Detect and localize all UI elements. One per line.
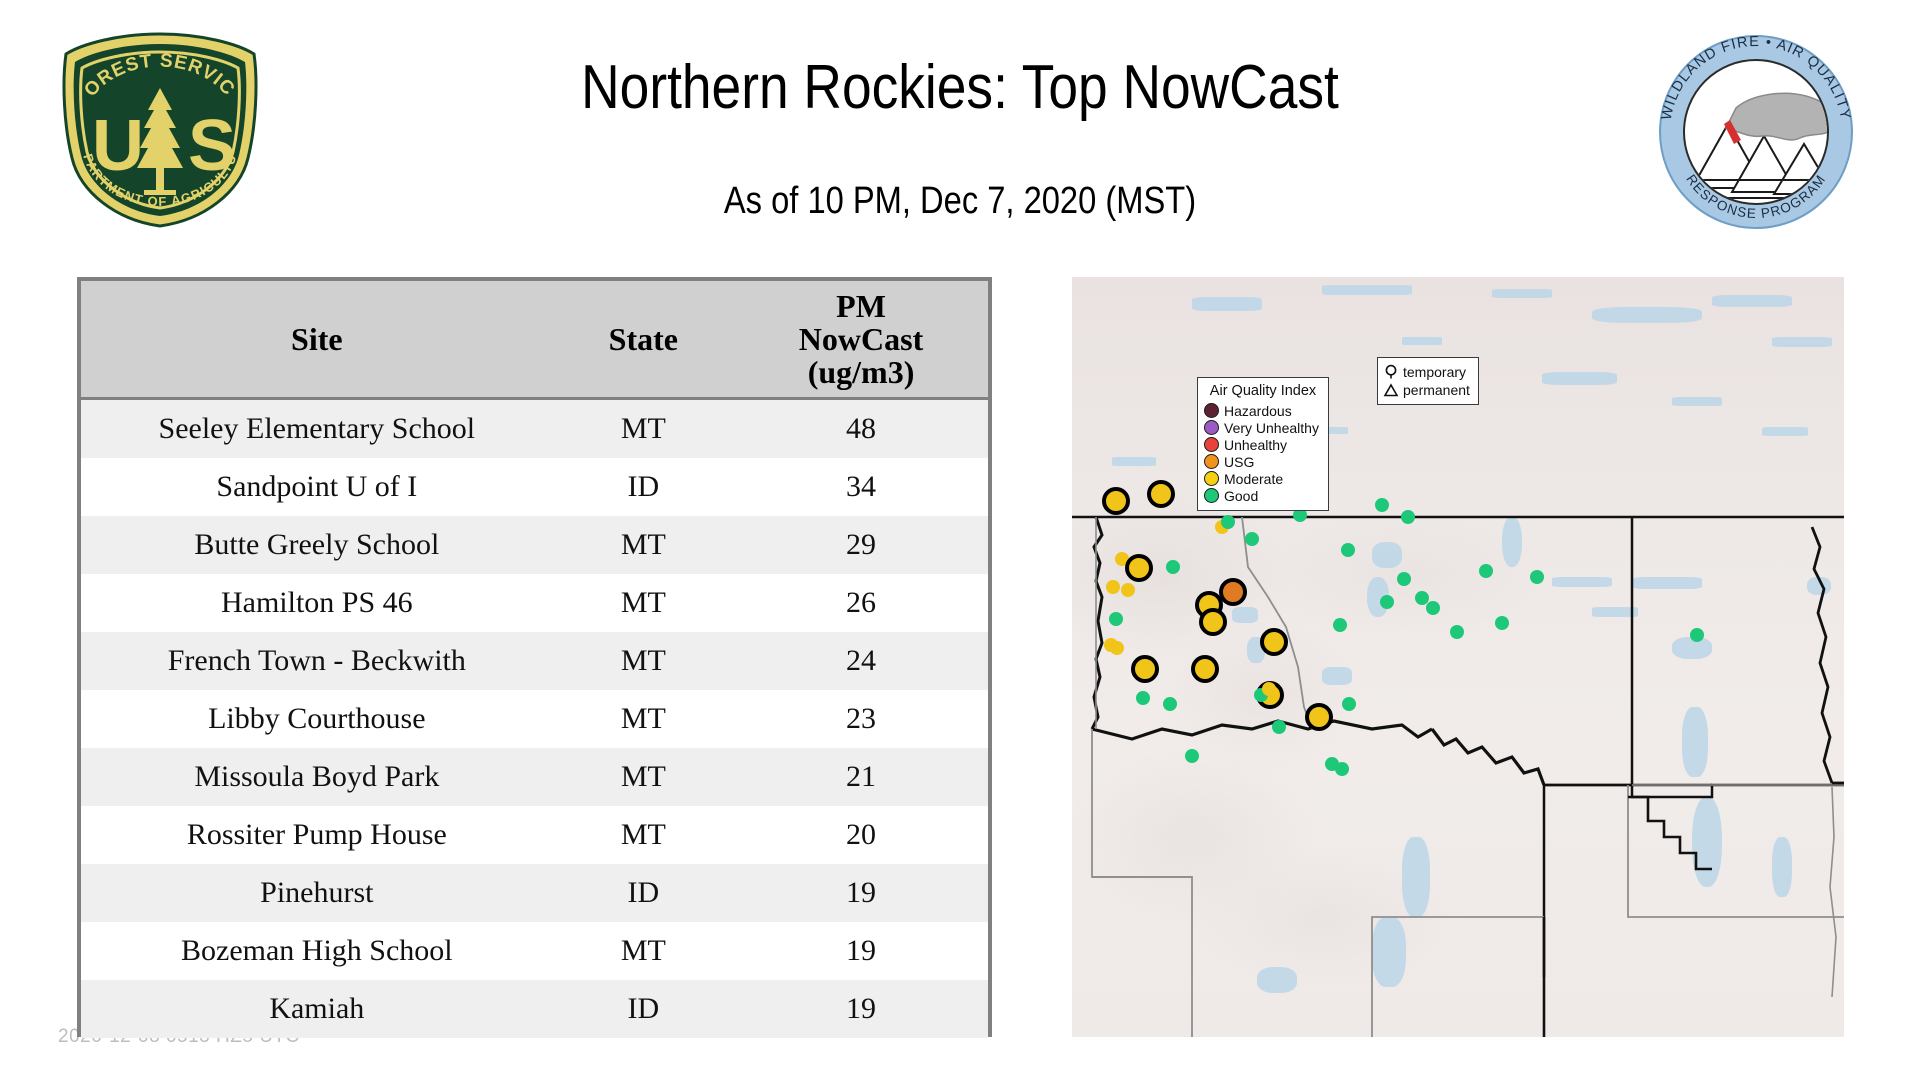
monitor-marker[interactable]	[1109, 612, 1123, 626]
wildland-fire-air-quality-logo-icon: WILDLAND FIRE • AIR QUALITY RESPONSE PRO…	[1652, 32, 1860, 232]
legend-item-good: Good	[1204, 487, 1322, 504]
cell-state: MT	[553, 632, 734, 690]
legend-label-temporary: temporary	[1403, 364, 1466, 380]
table-row: Seeley Elementary SchoolMT48	[81, 399, 988, 459]
table-row: Missoula Boyd ParkMT21	[81, 748, 988, 806]
cell-site: Seeley Elementary School	[81, 399, 553, 459]
cell-site: Libby Courthouse	[81, 690, 553, 748]
cell-pm: 26	[734, 574, 988, 632]
cell-pm: 24	[734, 632, 988, 690]
monitor-marker[interactable]	[1136, 691, 1150, 705]
monitor-marker[interactable]	[1333, 618, 1347, 632]
monitor-marker[interactable]	[1401, 510, 1415, 524]
table-row: Bozeman High SchoolMT19	[81, 922, 988, 980]
column-header-pm-nowcast: PM NowCast (ug/m3)	[734, 281, 988, 399]
monitor-marker[interactable]	[1260, 628, 1288, 656]
monitor-marker[interactable]	[1341, 543, 1355, 557]
legend-item-permanent: permanent	[1383, 381, 1473, 399]
monitor-marker[interactable]	[1131, 655, 1159, 683]
cell-state: MT	[553, 690, 734, 748]
pm-header-line3: (ug/m3)	[734, 356, 988, 389]
cell-site: French Town - Beckwith	[81, 632, 553, 690]
monitor-marker[interactable]	[1106, 580, 1120, 594]
legend-item-usg: USG	[1204, 453, 1322, 470]
page-title: Northern Rockies: Top NowCast	[392, 52, 1527, 124]
legend-item-very-unhealthy: Very Unhealthy	[1204, 419, 1322, 436]
monitor-marker[interactable]	[1219, 578, 1247, 606]
monitor-marker[interactable]	[1479, 564, 1493, 578]
monitor-marker[interactable]	[1245, 532, 1259, 546]
air-quality-index-legend: Air Quality Index HazardousVery Unhealth…	[1197, 377, 1329, 511]
monitor-marker[interactable]	[1426, 601, 1440, 615]
monitor-marker[interactable]	[1397, 572, 1411, 586]
cell-pm: 29	[734, 516, 988, 574]
legend-label: USG	[1224, 454, 1254, 470]
pm-header-line1: PM	[734, 290, 988, 323]
table-row: Rossiter Pump HouseMT20	[81, 806, 988, 864]
legend-title: Air Quality Index	[1204, 383, 1322, 399]
cell-pm: 21	[734, 748, 988, 806]
legend-label: Good	[1224, 488, 1258, 504]
legend-swatch-icon	[1204, 488, 1219, 503]
column-header-site: Site	[81, 281, 553, 399]
monitor-marker[interactable]	[1342, 697, 1356, 711]
monitor-marker[interactable]	[1262, 682, 1276, 696]
cell-state: MT	[553, 922, 734, 980]
monitor-marker[interactable]	[1102, 487, 1130, 515]
cell-state: ID	[553, 864, 734, 922]
column-header-state: State	[553, 281, 734, 399]
legend-item-moderate: Moderate	[1204, 470, 1322, 487]
legend-swatch-icon	[1204, 437, 1219, 452]
monitor-marker[interactable]	[1530, 570, 1544, 584]
air-quality-monitor-map[interactable]: Air Quality Index HazardousVery Unhealth…	[1072, 277, 1844, 1037]
cell-site: Rossiter Pump House	[81, 806, 553, 864]
monitor-marker[interactable]	[1147, 480, 1175, 508]
monitor-marker[interactable]	[1221, 515, 1235, 529]
legend-label: Moderate	[1224, 471, 1283, 487]
monitor-marker[interactable]	[1110, 641, 1124, 655]
monitor-marker[interactable]	[1335, 762, 1349, 776]
legend-label: Very Unhealthy	[1224, 420, 1319, 436]
cell-pm: 20	[734, 806, 988, 864]
monitor-marker[interactable]	[1305, 703, 1333, 731]
table-row: Butte Greely SchoolMT29	[81, 516, 988, 574]
monitor-marker[interactable]	[1125, 554, 1153, 582]
cell-site: Pinehurst	[81, 864, 553, 922]
cell-site: Bozeman High School	[81, 922, 553, 980]
monitor-marker[interactable]	[1121, 583, 1135, 597]
pm-header-line2: NowCast	[734, 323, 988, 356]
cell-site: Kamiah	[81, 980, 553, 1038]
legend-swatch-icon	[1204, 471, 1219, 486]
table-row: PinehurstID19	[81, 864, 988, 922]
table-row: Hamilton PS 46MT26	[81, 574, 988, 632]
page-subtitle: As of 10 PM, Dec 7, 2020 (MST)	[392, 178, 1527, 224]
cell-pm: 34	[734, 458, 988, 516]
monitor-marker[interactable]	[1185, 749, 1199, 763]
monitor-marker[interactable]	[1166, 560, 1180, 574]
cell-pm: 19	[734, 922, 988, 980]
forest-service-shield-icon: FOREST SERVICE U S DEPARTMENT OF AGRICUL…	[52, 30, 268, 230]
table-row: French Town - BeckwithMT24	[81, 632, 988, 690]
cell-state: MT	[553, 748, 734, 806]
legend-label: Unhealthy	[1224, 437, 1287, 453]
table-row: KamiahID19	[81, 980, 988, 1038]
legend-item-temporary: temporary	[1383, 363, 1473, 381]
cell-state: ID	[553, 980, 734, 1038]
cell-site: Butte Greely School	[81, 516, 553, 574]
top-nowcast-table: Site State PM NowCast (ug/m3) Seeley Ele…	[77, 277, 992, 1037]
legend-swatch-icon	[1204, 454, 1219, 469]
table-header-row: Site State PM NowCast (ug/m3)	[81, 281, 988, 399]
cell-pm: 19	[734, 980, 988, 1038]
cell-site: Hamilton PS 46	[81, 574, 553, 632]
monitor-marker[interactable]	[1163, 697, 1177, 711]
circle-marker-icon	[1383, 364, 1399, 380]
cell-site: Sandpoint U of I	[81, 458, 553, 516]
cell-state: ID	[553, 458, 734, 516]
slide-header: FOREST SERVICE U S DEPARTMENT OF AGRICUL…	[0, 0, 1920, 260]
triangle-marker-icon	[1383, 382, 1399, 398]
cell-pm: 19	[734, 864, 988, 922]
monitor-marker[interactable]	[1495, 616, 1509, 630]
monitor-marker[interactable]	[1690, 628, 1704, 642]
monitor-marker[interactable]	[1272, 720, 1286, 734]
cell-state: MT	[553, 574, 734, 632]
monitor-marker[interactable]	[1191, 655, 1219, 683]
cell-site: Missoula Boyd Park	[81, 748, 553, 806]
monitor-marker[interactable]	[1199, 608, 1227, 636]
monitor-marker[interactable]	[1450, 625, 1464, 639]
cell-state: MT	[553, 516, 734, 574]
monitor-marker[interactable]	[1380, 595, 1394, 609]
table-row: Sandpoint U of IID34	[81, 458, 988, 516]
cell-state: MT	[553, 399, 734, 459]
cell-pm: 23	[734, 690, 988, 748]
cell-state: MT	[553, 806, 734, 864]
table-row: Libby CourthouseMT23	[81, 690, 988, 748]
monitor-type-legend: temporary permanent	[1377, 357, 1479, 405]
legend-item-hazardous: Hazardous	[1204, 402, 1322, 419]
monitor-marker[interactable]	[1375, 498, 1389, 512]
legend-swatch-icon	[1204, 420, 1219, 435]
legend-swatch-icon	[1204, 403, 1219, 418]
legend-label-permanent: permanent	[1403, 382, 1470, 398]
cell-pm: 48	[734, 399, 988, 459]
legend-label: Hazardous	[1224, 403, 1292, 419]
legend-item-unhealthy: Unhealthy	[1204, 436, 1322, 453]
